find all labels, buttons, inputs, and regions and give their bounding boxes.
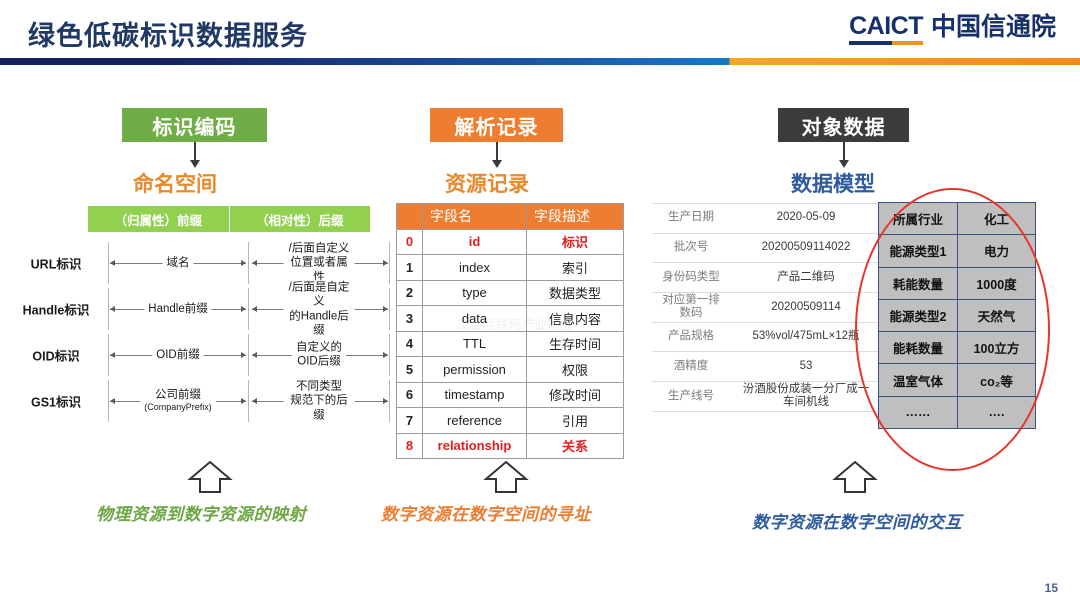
rr-cell-index: 8 — [397, 433, 423, 459]
em-cell-value: 1000度 — [958, 267, 1036, 299]
namespace-row-bar: 公司前缀(CompanyPrefix) 不同类型 规范下的后缀 — [108, 378, 390, 424]
namespace-header-prefix: （归属性）前缀 — [88, 206, 230, 232]
namespace-row: URL标识 域名 /后面自定义 位置或者属性 — [20, 240, 370, 286]
table-row: 3 data 信息内容 — [397, 306, 624, 332]
subtitle-resource-record: 资源记录 — [445, 168, 529, 198]
namespace-row-bar: 域名 /后面自定义 位置或者属性 — [108, 240, 390, 286]
page-number: 15 — [1045, 581, 1058, 595]
slide-header: 绿色低碳标识数据服务 CAICT 中国信通院 — [0, 0, 1080, 72]
table-row: 1 index 索引 — [397, 255, 624, 281]
rr-cell-index: 2 — [397, 280, 423, 306]
caict-logo-underline — [849, 41, 923, 45]
caict-logo-text: CAICT — [849, 14, 923, 39]
rr-cell-desc: 生存时间 — [527, 331, 624, 357]
rr-cell-index: 4 — [397, 331, 423, 357]
rr-cell-index: 3 — [397, 306, 423, 332]
od-cell-key: 产品规格 — [652, 322, 730, 352]
caption-middle: 数字资源在数字空间的寻址 — [381, 500, 591, 525]
arrow-up-icon-middle — [483, 460, 529, 494]
logo-underline-blue — [849, 41, 892, 45]
table-row: 批次号 20200509114022 — [652, 233, 882, 263]
em-cell-key: 能耗数量 — [879, 332, 958, 364]
em-cell-key: 能源类型2 — [879, 299, 958, 331]
namespace-row-label: GS1标识 — [20, 392, 92, 411]
table-row: 生产线号 汾酒股份成装一分厂成一 车间机线 — [652, 382, 882, 412]
arrow-up-icon-right — [832, 460, 878, 494]
od-cell-value: 汾酒股份成装一分厂成一 车间机线 — [730, 382, 882, 412]
table-header-row: 字段名 字段描述 — [397, 204, 624, 230]
namespace-rows: URL标识 域名 /后面自定义 位置或者属性 Handle标识 Handle前缀… — [20, 240, 370, 424]
rr-cell-desc: 关系 — [527, 433, 624, 459]
em-cell-key: 所属行业 — [879, 203, 958, 235]
chip-identifier-code: 标识编码 — [122, 108, 267, 142]
rr-cell-desc: 引用 — [527, 408, 624, 434]
table-row: 4 TTL 生存时间 — [397, 331, 624, 357]
rr-header-field-desc: 字段描述 — [527, 204, 624, 230]
table-row: 6 timestamp 修改时间 — [397, 382, 624, 408]
od-cell-value: 53%vol/475mL×12瓶 — [730, 322, 882, 352]
subtitle-data-model: 数据模型 — [791, 168, 875, 198]
arrow-down-icon-middle — [490, 142, 504, 168]
em-cell-key: 耗能数量 — [879, 267, 958, 299]
rr-cell-desc: 权限 — [527, 357, 624, 383]
resource-record-table: 字段名 字段描述 0 id 标识 1 index 索引 2 type 数据类型 … — [396, 203, 624, 459]
em-cell-value: 电力 — [958, 235, 1036, 267]
table-row: 产品规格 53%vol/475mL×12瓶 — [652, 322, 882, 352]
od-cell-key: 生产线号 — [652, 382, 730, 412]
namespace-suffix-value: /后面是自定义 的Handle后缀 — [284, 280, 355, 338]
arrow-up-icon-left — [187, 460, 233, 494]
arrow-down-icon-left — [188, 142, 202, 168]
rr-cell-desc: 信息内容 — [527, 306, 624, 332]
chip-object-data: 对象数据 — [778, 108, 909, 142]
namespace-header: （归属性）前缀 （相对性）后缀 — [88, 206, 370, 232]
od-cell-value: 20200509114 — [730, 293, 882, 323]
rr-cell-index: 0 — [397, 229, 423, 255]
caict-logo: CAICT 中国信通院 — [849, 14, 1056, 45]
rr-cell-name: index — [423, 255, 527, 281]
table-row: 能耗数量 100立方 — [879, 332, 1036, 364]
caict-logo-chinese: 中国信通院 — [931, 15, 1056, 45]
rr-cell-name: TTL — [423, 331, 527, 357]
od-cell-value: 2020-05-09 — [730, 204, 882, 234]
table-row: …… …. — [879, 396, 1036, 428]
od-cell-value: 产品二维码 — [730, 263, 882, 293]
namespace-row-bar: Handle前缀 /后面是自定义 的Handle后缀 — [108, 286, 390, 332]
chip-resolution-record: 解析记录 — [430, 108, 563, 142]
rr-header-field-name: 字段名 — [423, 204, 527, 230]
table-row: 身份码类型 产品二维码 — [652, 263, 882, 293]
rr-cell-name: relationship — [423, 433, 527, 459]
rr-cell-name: id — [423, 229, 527, 255]
caict-logo-mark: CAICT — [849, 14, 923, 45]
rr-cell-index: 1 — [397, 255, 423, 281]
namespace-header-suffix: （相对性）后缀 — [230, 206, 371, 232]
caption-left: 物理资源到数字资源的映射 — [96, 500, 306, 525]
namespace-prefix-value: 公司前缀 — [155, 389, 201, 401]
namespace-suffix-value: /后面自定义 位置或者属性 — [284, 241, 355, 284]
subtitle-naming-space: 命名空间 — [133, 168, 217, 198]
rr-cell-desc: 修改时间 — [527, 382, 624, 408]
namespace-row-label: Handle标识 — [20, 300, 92, 319]
em-cell-key: …… — [879, 396, 958, 428]
page-title: 绿色低碳标识数据服务 — [28, 14, 308, 53]
namespace-row-label: OID标识 — [20, 346, 92, 365]
table-row: 所属行业 化工 — [879, 203, 1036, 235]
table-row: 0 id 标识 — [397, 229, 624, 255]
em-cell-value: 化工 — [958, 203, 1036, 235]
table-row: 生产日期 2020-05-09 — [652, 204, 882, 234]
em-cell-value: …. — [958, 396, 1036, 428]
table-row: 5 permission 权限 — [397, 357, 624, 383]
em-cell-key: 温室气体 — [879, 364, 958, 396]
od-cell-value: 53 — [730, 352, 882, 382]
namespace-prefix-subvalue: (CompanyPrefix) — [144, 403, 212, 414]
rr-cell-index: 7 — [397, 408, 423, 434]
rr-cell-desc: 标识 — [527, 229, 624, 255]
table-row: 7 reference 引用 — [397, 408, 624, 434]
namespace-prefix-value: 域名 — [163, 256, 194, 270]
rr-cell-index: 6 — [397, 382, 423, 408]
namespace-row: GS1标识 公司前缀(CompanyPrefix) 不同类型 规范下的后缀 — [20, 378, 370, 424]
od-cell-key: 酒精度 — [652, 352, 730, 382]
caption-right: 数字资源在数字空间的交互 — [752, 508, 962, 533]
em-cell-value: 天然气 — [958, 299, 1036, 331]
rr-cell-name: reference — [423, 408, 527, 434]
table-row: 温室气体 co₂等 — [879, 364, 1036, 396]
od-cell-value: 20200509114022 — [730, 233, 882, 263]
table-row: 能源类型2 天然气 — [879, 299, 1036, 331]
header-divider-rule — [0, 58, 1080, 65]
od-cell-key: 批次号 — [652, 233, 730, 263]
em-cell-key: 能源类型1 — [879, 235, 958, 267]
namespace-row: OID标识 OID前缀 自定义的 OID后缀 — [20, 332, 370, 378]
namespace-row-label: URL标识 — [20, 254, 92, 273]
rr-cell-desc: 数据类型 — [527, 280, 624, 306]
namespace-row: Handle标识 Handle前缀 /后面是自定义 的Handle后缀 — [20, 286, 370, 332]
namespace-row-bar: OID前缀 自定义的 OID后缀 — [108, 332, 390, 378]
rr-cell-name: data — [423, 306, 527, 332]
table-row: 2 type 数据类型 — [397, 280, 624, 306]
table-row: 8 relationship 关系 — [397, 433, 624, 459]
table-row: 能源类型1 电力 — [879, 235, 1036, 267]
em-cell-value: co₂等 — [958, 364, 1036, 396]
logo-underline-orange — [892, 41, 923, 45]
rr-cell-name: timestamp — [423, 382, 527, 408]
em-cell-value: 100立方 — [958, 332, 1036, 364]
table-row: 酒精度 53 — [652, 352, 882, 382]
rr-cell-name: type — [423, 280, 527, 306]
od-cell-key: 对应第一排 数码 — [652, 293, 730, 323]
rr-cell-index: 5 — [397, 357, 423, 383]
namespace-prefix-value: Handle前缀 — [144, 302, 211, 316]
namespace-prefix-value: OID前缀 — [152, 348, 203, 362]
namespace-suffix-value: 不同类型 规范下的后缀 — [284, 379, 355, 422]
namespace-suffix-value: 自定义的 OID后缀 — [292, 341, 346, 370]
object-data-table: 生产日期 2020-05-09 批次号 20200509114022 身份码类型… — [652, 203, 882, 412]
table-row: 耗能数量 1000度 — [879, 267, 1036, 299]
rr-cell-name: permission — [423, 357, 527, 383]
table-row: 对应第一排 数码 20200509114 — [652, 293, 882, 323]
energy-model-table: 所属行业 化工 能源类型1 电力 耗能数量 1000度 能源类型2 天然气 能耗… — [878, 202, 1036, 429]
rr-cell-desc: 索引 — [527, 255, 624, 281]
namespace-prefix-cell: 公司前缀(CompanyPrefix) — [140, 388, 216, 414]
od-cell-key: 生产日期 — [652, 204, 730, 234]
rr-header-index — [397, 204, 423, 230]
arrow-down-icon-right — [837, 142, 851, 168]
od-cell-key: 身份码类型 — [652, 263, 730, 293]
